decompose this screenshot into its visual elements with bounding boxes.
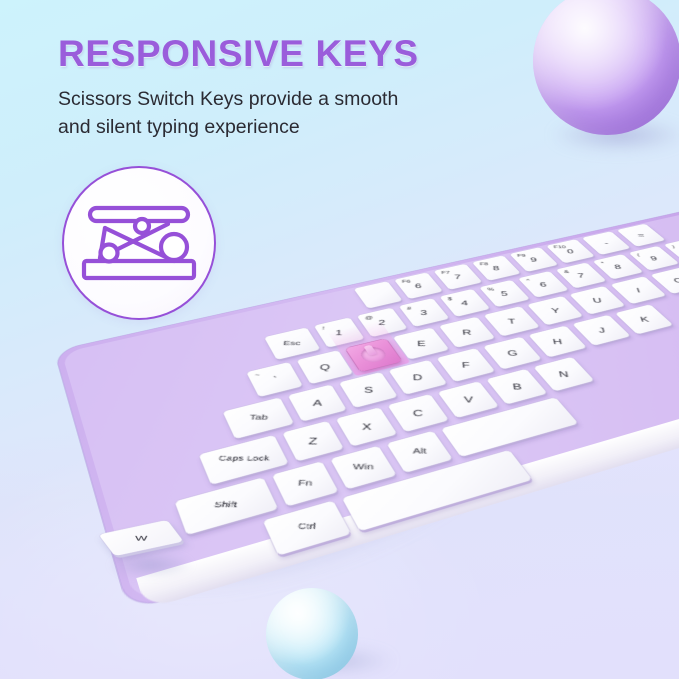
keycap-label: I bbox=[635, 287, 641, 293]
keycap-label: 1 bbox=[335, 329, 342, 336]
keycap-label: R bbox=[462, 328, 472, 335]
keycap-label: U bbox=[592, 297, 603, 304]
detached-keycap-shadow bbox=[108, 552, 194, 578]
keycap-label: 9 bbox=[649, 255, 658, 261]
keycap-label: 8 bbox=[614, 263, 622, 269]
keycap-label: 5 bbox=[500, 290, 508, 297]
keycap-label: 3 bbox=[420, 309, 427, 316]
keycap-label: 8 bbox=[492, 265, 499, 271]
keycap-label: Esc bbox=[283, 340, 301, 346]
keycap-label: E bbox=[416, 340, 425, 347]
feature-badge bbox=[62, 166, 216, 320]
subtitle-line-2: and silent typing experience bbox=[58, 114, 528, 142]
product-feature-image: 6F67F78F89F90F10-=Esc1!2@3#4$5%6^7&8*9(0… bbox=[0, 0, 679, 679]
keycap-label: - bbox=[603, 240, 609, 246]
keycap-label: 0 bbox=[566, 248, 574, 254]
scissor-switch-icon bbox=[64, 168, 214, 318]
page-title: RESPONSIVE KEYS bbox=[58, 33, 419, 75]
keycap-label: 6 bbox=[415, 282, 422, 288]
keycap-sublabel: F9 bbox=[517, 254, 526, 258]
keycap-sublabel: % bbox=[487, 288, 494, 292]
keycap-sublabel: ! bbox=[322, 327, 325, 332]
keycap-label: K bbox=[639, 316, 650, 323]
keycap-sublabel: # bbox=[407, 307, 411, 311]
keycap-label: O bbox=[672, 277, 679, 283]
keycap-sublabel: * bbox=[601, 262, 605, 266]
keycap-label: J bbox=[597, 326, 605, 333]
keycap-label: 2 bbox=[378, 319, 385, 326]
keycap-label: 6 bbox=[539, 281, 547, 287]
keycap-sublabel: $ bbox=[448, 297, 453, 301]
keycap-label: 7 bbox=[454, 273, 461, 279]
keycap-sublabel: ( bbox=[637, 253, 641, 257]
keycap-sublabel: F7 bbox=[441, 271, 450, 275]
keycap-label: = bbox=[637, 232, 646, 238]
keycap-label: Y bbox=[550, 307, 560, 314]
keycap-label: T bbox=[507, 317, 516, 324]
keycap-label: 4 bbox=[461, 299, 469, 306]
subtitle-line-1: Scissors Switch Keys provide a smooth bbox=[58, 86, 528, 114]
keycap-sublabel: & bbox=[564, 270, 570, 274]
keycap-sublabel: ^ bbox=[526, 279, 530, 283]
keycap-sublabel: ) bbox=[672, 245, 676, 249]
detached-keycap-label: W bbox=[135, 534, 147, 542]
keycap-label: 7 bbox=[577, 272, 585, 278]
keycap-label: H bbox=[552, 337, 563, 344]
keycap-sublabel: @ bbox=[365, 316, 373, 320]
keycap-sublabel: F8 bbox=[480, 262, 489, 266]
subtitle: Scissors Switch Keys provide a smooth an… bbox=[58, 86, 528, 141]
keycap-label: G bbox=[506, 349, 517, 357]
keycap-sublabel: F6 bbox=[402, 280, 411, 284]
keycap-sublabel: F10 bbox=[553, 245, 566, 249]
keycap-label: 9 bbox=[530, 256, 538, 262]
